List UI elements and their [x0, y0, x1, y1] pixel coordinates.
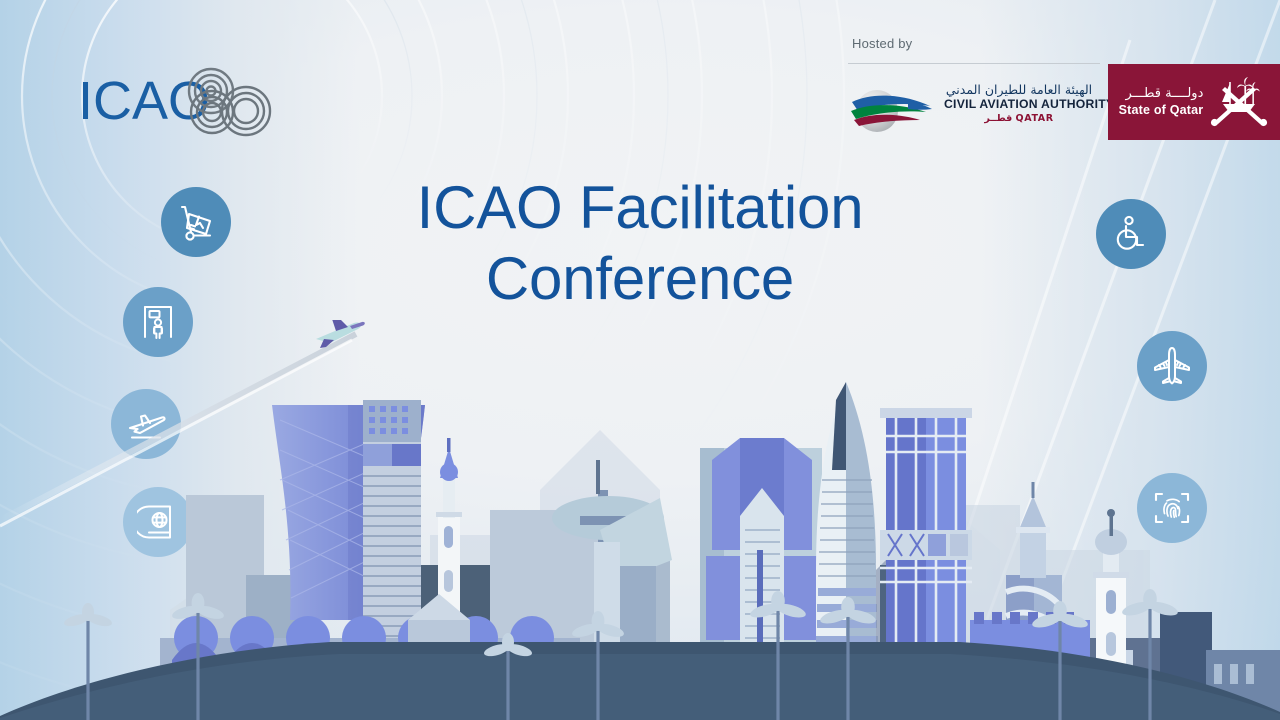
caa-text-block: الهيئة العامة للطيران المدني CIVIL AVIAT…	[944, 82, 1094, 126]
qatar-state-emblem-icon	[1209, 74, 1269, 130]
icao-80-anniversary-icon	[178, 66, 276, 138]
caa-country-arabic: قطــر	[984, 113, 1012, 124]
icon-bubble-cargo[interactable]	[161, 187, 231, 257]
cargo-trolley-icon	[175, 201, 217, 243]
hosted-by-label: Hosted by	[852, 36, 1102, 51]
hosted-by-divider	[848, 63, 1100, 64]
icao-logo: ICAO	[78, 66, 278, 138]
caa-country-english: QATAR	[1016, 113, 1054, 124]
qatar-badge-text: دولــــة قطـــر State of Qatar	[1119, 86, 1204, 118]
caa-arabic-name: الهيئة العامة للطيران المدني	[944, 82, 1094, 97]
page-title-line-1: ICAO Facilitation	[417, 174, 864, 241]
caa-globe-icon	[846, 84, 938, 138]
caa-english-name: CIVIL AVIATION AUTHORITY	[944, 97, 1094, 112]
civil-aviation-authority-logo: الهيئة العامة للطيران المدني CIVIL AVIAT…	[846, 82, 1092, 140]
icon-bubble-accessibility[interactable]	[1096, 199, 1166, 269]
slide-canvas: ICAO Hosted by	[0, 0, 1280, 720]
qatar-arabic-name: دولــــة قطـــر	[1119, 86, 1204, 102]
doha-skyline-illustration	[0, 320, 1280, 720]
wheelchair-accessibility-icon	[1110, 213, 1152, 255]
caa-country-label: قطــر QATAR	[944, 112, 1094, 126]
qatar-english-name: State of Qatar	[1119, 102, 1204, 118]
hosted-by-block: Hosted by	[852, 36, 1102, 51]
state-of-qatar-badge: دولــــة قطـــر State of Qatar	[1108, 64, 1280, 140]
